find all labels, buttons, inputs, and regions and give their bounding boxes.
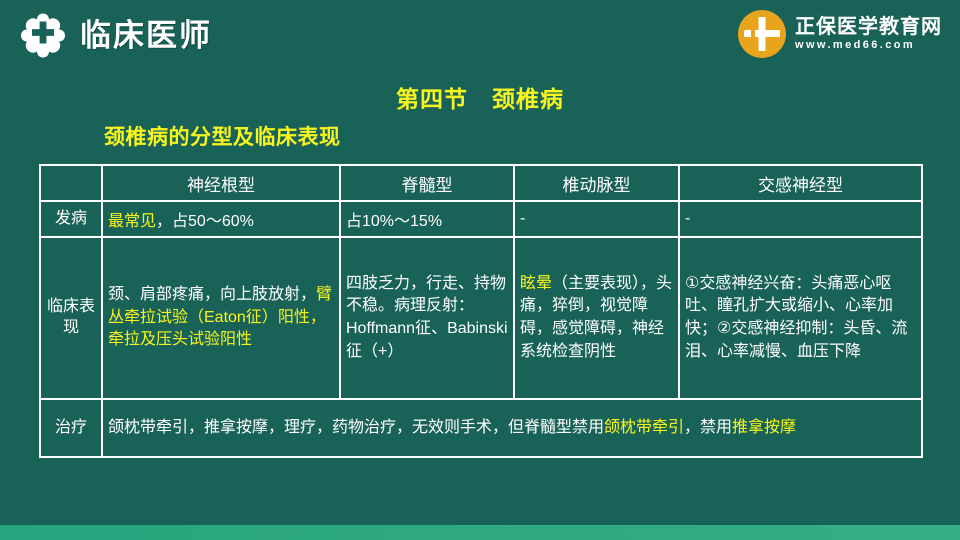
cell-text-highlight-2: 推拿按摩 xyxy=(732,419,796,436)
brand-lockup: 临床医师 xyxy=(20,12,212,58)
cell-text-plain: 颈、肩部疼痛，向上肢放射， xyxy=(108,286,316,303)
table-header-row: 神经根型 脊髓型 椎动脉型 交感神经型 xyxy=(40,165,922,201)
cell-text-plain-2: ，禁用 xyxy=(684,419,732,436)
cell-text-plain: - xyxy=(685,210,690,227)
cell-symptoms-nerve-root: 颈、肩部疼痛，向上肢放射，臂丛牵拉试验（Eaton征）阳性，牵拉及压头试验阳性 xyxy=(102,237,340,399)
cell-treatment-all: 颌枕带牵引，推拿按摩，理疗，药物治疗，无效则手术，但脊髓型禁用颌枕带牵引，禁用推… xyxy=(102,399,922,457)
bottom-accent-bar xyxy=(0,525,960,540)
row-label-onset: 发病 xyxy=(40,201,102,237)
cross-circle-icon xyxy=(738,10,786,58)
row-label-clinical-manifestation: 临床表现 xyxy=(40,237,102,399)
corp-logo-lockup: 正保医学教育网 www.med66.com xyxy=(738,10,942,58)
table-row: 治疗 颌枕带牵引，推拿按摩，理疗，药物治疗，无效则手术，但脊髓型禁用颌枕带牵引，… xyxy=(40,399,922,457)
cell-text-plain: 颌枕带牵引，推拿按摩，理疗，药物治疗，无效则手术，但脊髓型禁用 xyxy=(108,419,604,436)
table-row: 发病 最常见，占50～60% 占10%～15% - - xyxy=(40,201,922,237)
slide-canvas: 临床医师 正保医学教育网 www.med66.com 第四节 颈椎病 颈椎病的分… xyxy=(0,0,960,540)
row-label-treatment: 治疗 xyxy=(40,399,102,457)
cell-symptoms-spinal-cord: 四肢乏力，行走、持物不稳。病理反射：Hoffmann征、Babinski征（+） xyxy=(340,237,514,399)
cell-symptoms-vertebral-artery: 眩晕（主要表现），头痛，猝倒，视觉障碍，感觉障碍，神经系统检查阴性 xyxy=(514,237,679,399)
table-corner-cell xyxy=(40,165,102,201)
corp-logo-name: 正保医学教育网 xyxy=(795,17,942,37)
cell-text-plain: ①交感神经兴奋：头痛恶心呕吐、瞳孔扩大或缩小、心率加快；②交感神经抑制：头昏、流… xyxy=(685,275,907,360)
cell-text-highlight: 颌枕带牵引 xyxy=(604,419,684,436)
cell-text-plain: 占10%～15% xyxy=(346,213,442,230)
cell-onset-vertebral-artery: - xyxy=(514,201,679,237)
cell-text-highlight: 眩晕 xyxy=(520,275,552,292)
cell-onset-spinal-cord: 占10%～15% xyxy=(340,201,514,237)
cervical-spondylosis-table: 神经根型 脊髓型 椎动脉型 交感神经型 发病 最常见，占50～60% 占10%～… xyxy=(39,164,923,458)
cell-text-plain: - xyxy=(520,210,525,227)
table-header-sympathetic: 交感神经型 xyxy=(679,165,922,201)
cell-text-plain-suffix: ，占50～60% xyxy=(156,213,254,230)
cell-onset-sympathetic: - xyxy=(679,201,922,237)
page-subtitle: 颈椎病的分型及临床表现 xyxy=(104,121,341,151)
page-title: 第四节 颈椎病 xyxy=(0,80,960,114)
cell-symptoms-sympathetic: ①交感神经兴奋：头痛恶心呕吐、瞳孔扩大或缩小、心率加快；②交感神经抑制：头昏、流… xyxy=(679,237,922,399)
brand-title: 临床医师 xyxy=(80,20,212,51)
table-header-spinal-cord: 脊髓型 xyxy=(340,165,514,201)
cell-onset-nerve-root: 最常见，占50～60% xyxy=(102,201,340,237)
table-header-vertebral-artery: 椎动脉型 xyxy=(514,165,679,201)
cell-text-highlight: 最常见 xyxy=(108,213,156,230)
medical-cross-flower-icon xyxy=(20,12,66,58)
corp-logo-text: 正保医学教育网 www.med66.com xyxy=(795,17,942,51)
cell-text-plain: 四肢乏力，行走、持物不稳。病理反射：Hoffmann征、Babinski征（+） xyxy=(346,275,508,360)
corp-logo-url: www.med66.com xyxy=(795,40,942,51)
table-row: 临床表现 颈、肩部疼痛，向上肢放射，臂丛牵拉试验（Eaton征）阳性，牵拉及压头… xyxy=(40,237,922,399)
table-header-nerve-root: 神经根型 xyxy=(102,165,340,201)
